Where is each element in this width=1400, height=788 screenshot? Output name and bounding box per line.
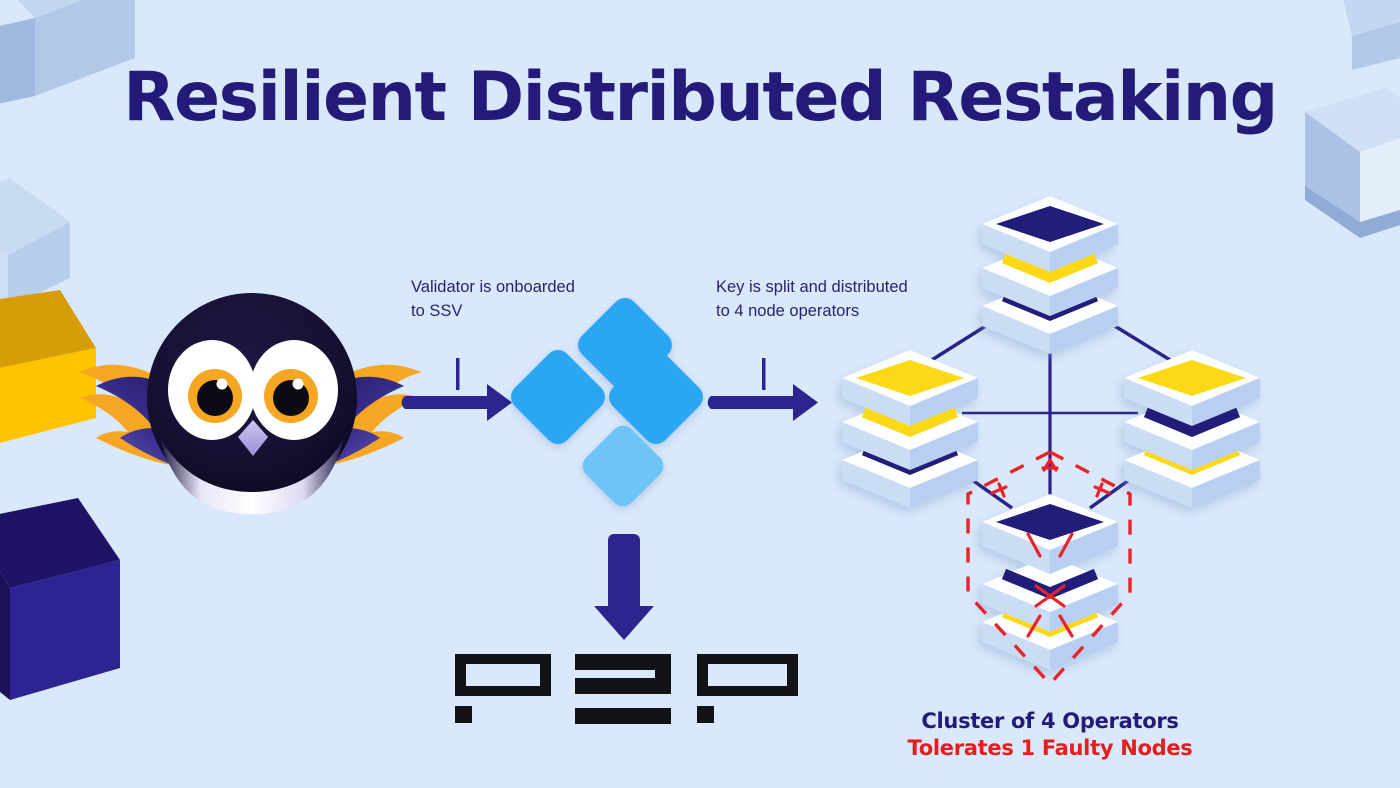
diagram-canvas: Resilient Distributed Restaking Validato…: [0, 0, 1400, 788]
annotation-key-split: Key is split and distributed to 4 node o…: [716, 276, 916, 323]
text-layer: Resilient Distributed Restaking Validato…: [0, 0, 1400, 788]
cluster-caption-secondary: Tolerates 1 Faulty Nodes: [790, 735, 1310, 762]
annotation-validator-onboarding: Validator is onboarded to SSV: [411, 276, 591, 323]
cluster-caption: Cluster of 4 Operators Tolerates 1 Fault…: [790, 708, 1310, 762]
cluster-caption-primary: Cluster of 4 Operators: [790, 708, 1310, 735]
page-title: Resilient Distributed Restaking: [0, 58, 1400, 137]
